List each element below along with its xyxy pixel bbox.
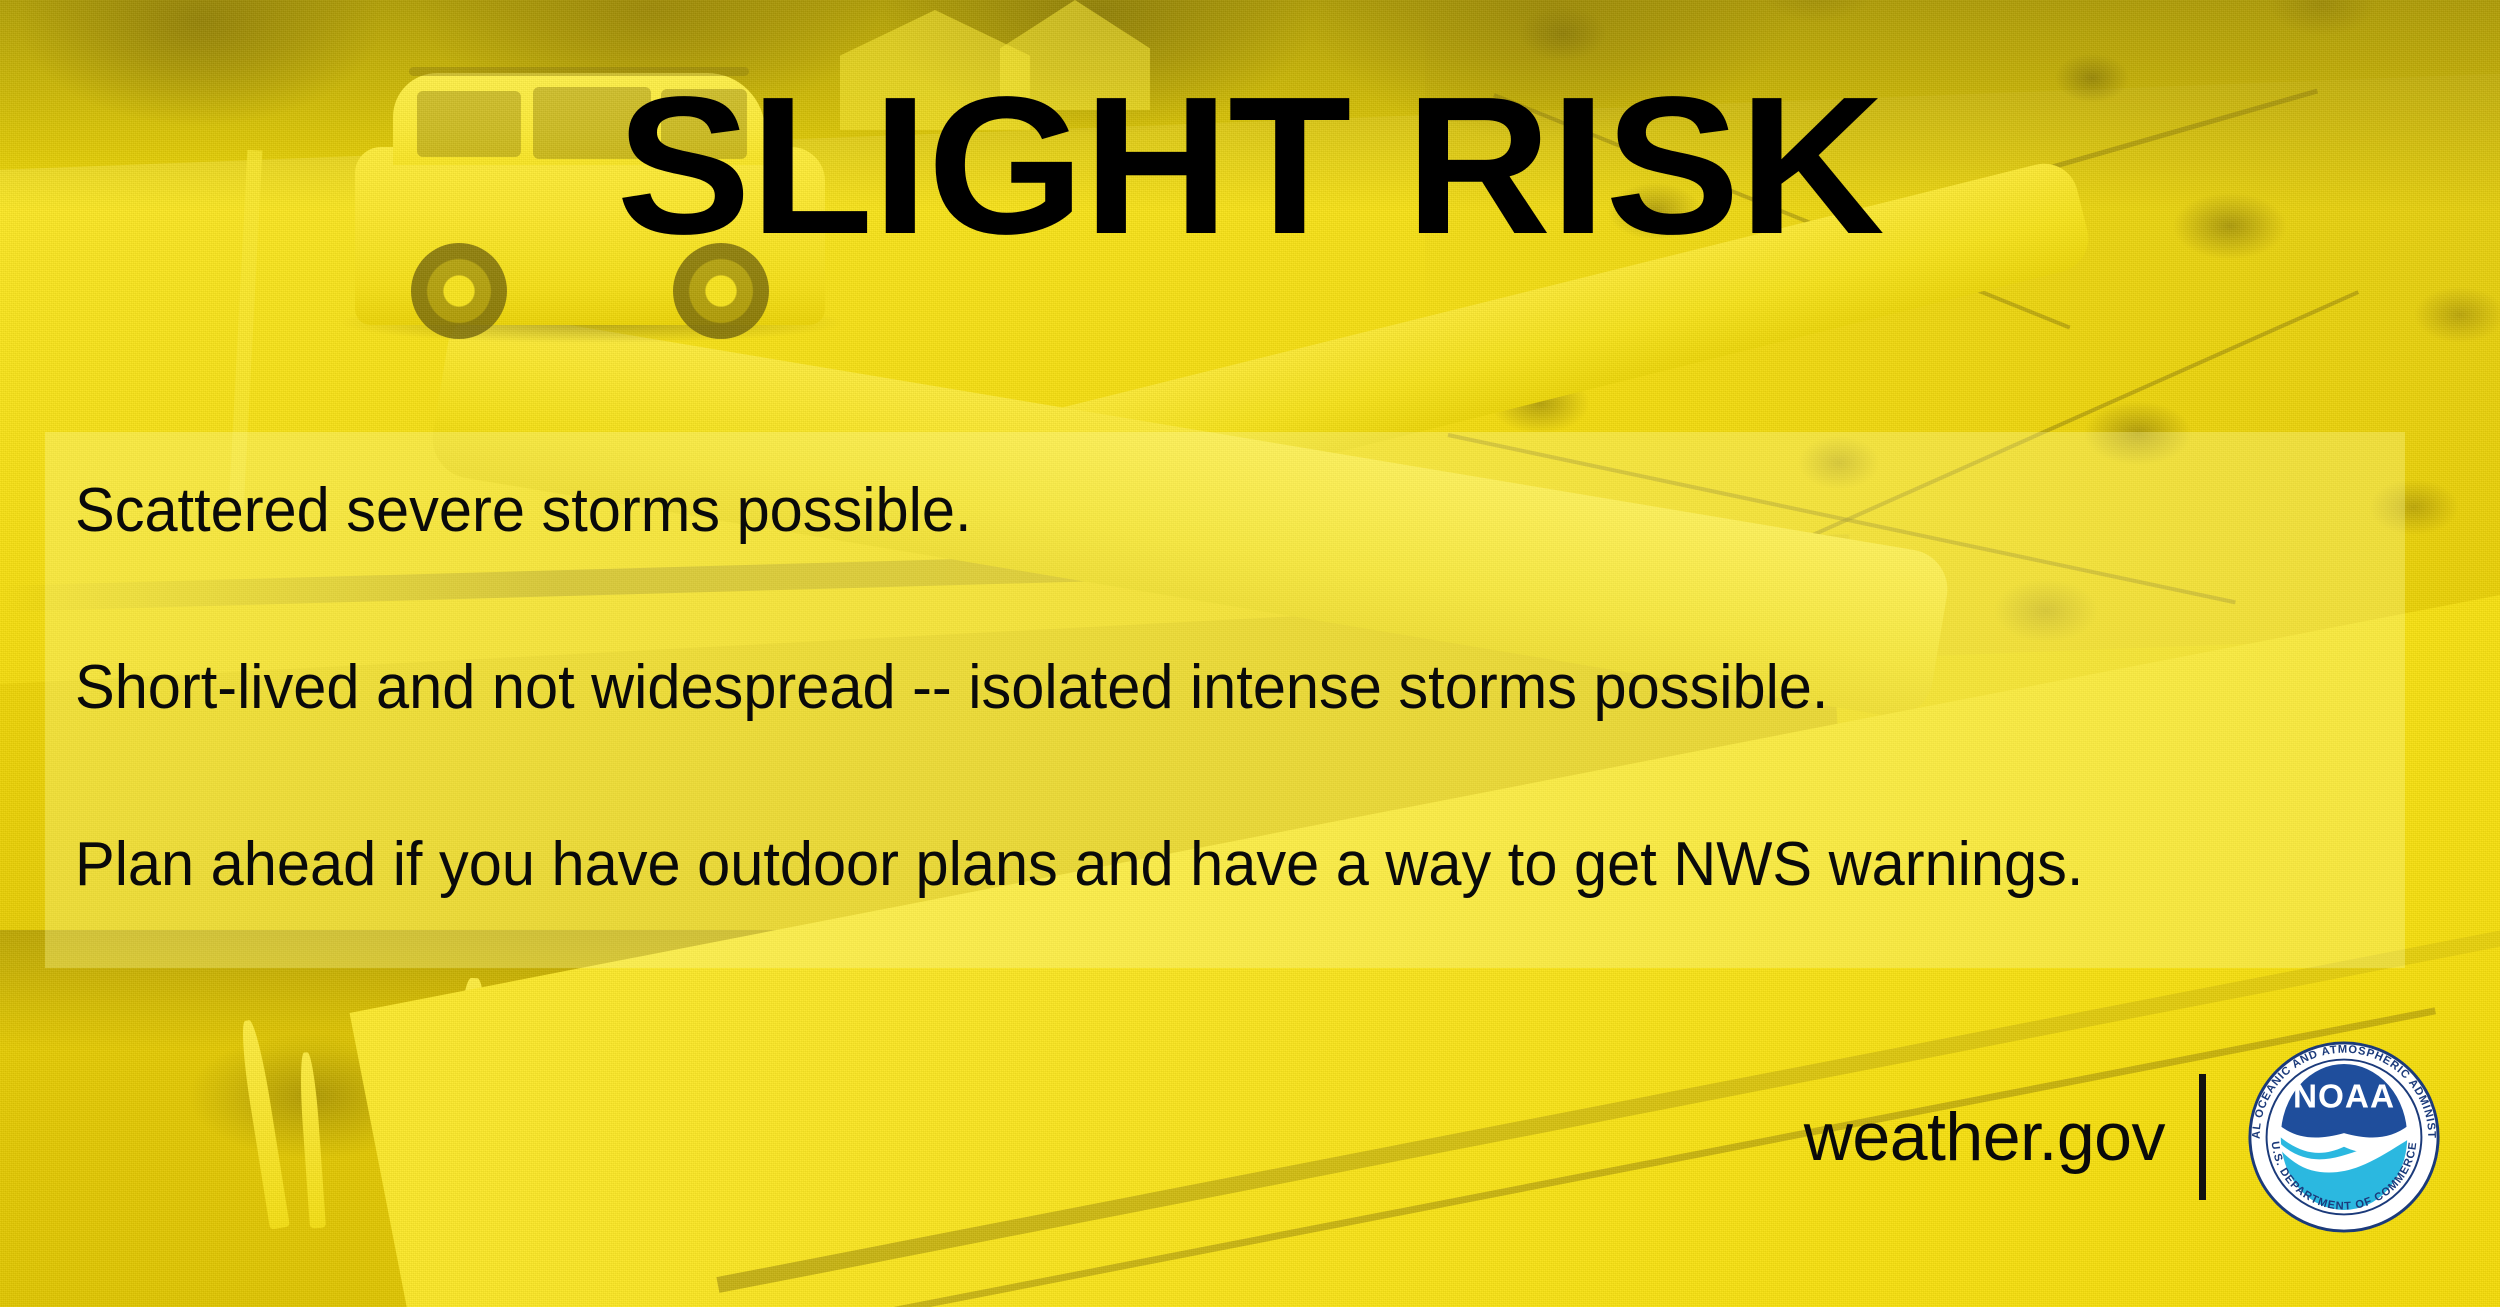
message-panel: Scattered severe storms possible. Short-… <box>45 432 2405 968</box>
noaa-wordmark: NOAA <box>2293 1079 2395 1116</box>
footer-branding: weather.gov NOAA <box>1804 1039 2442 1235</box>
message-line-3: Plan ahead if you have outdoor plans and… <box>75 832 2283 899</box>
severe-weather-graphic: SLIGHT RISK Scattered severe storms poss… <box>0 0 2500 1307</box>
message-line-2: Short-lived and not widespread -- isolat… <box>75 655 2283 722</box>
noaa-seal-icon: NOAA NATIONAL OCEANIC AND ATMOSPHERIC AD… <box>2246 1039 2442 1235</box>
message-line-1: Scattered severe storms possible. <box>75 478 2283 545</box>
weather-gov-link[interactable]: weather.gov <box>1804 1103 2199 1171</box>
page-title: SLIGHT RISK <box>0 68 2500 264</box>
footer-divider <box>2199 1074 2206 1200</box>
